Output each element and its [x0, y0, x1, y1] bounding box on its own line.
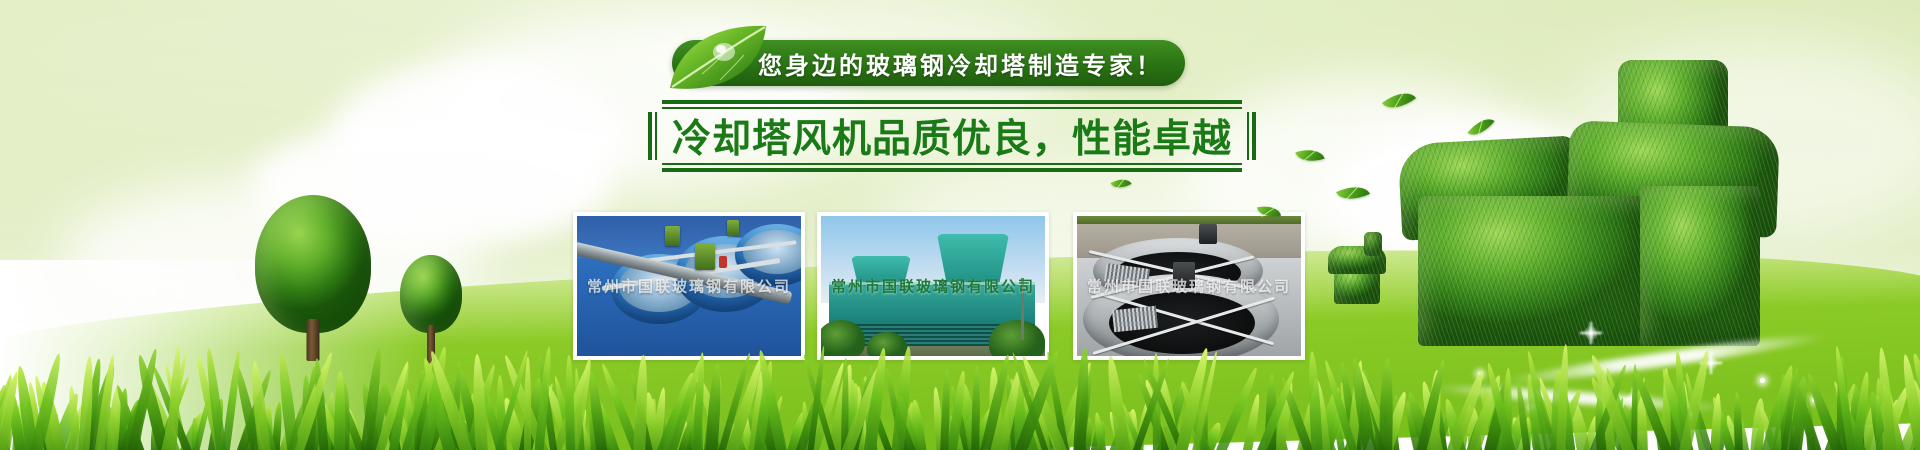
grass-blade — [564, 355, 574, 450]
promo-banner: 您身边的玻璃钢冷却塔制造专家！ 冷却塔风机品质优良，性能卓越 常州市国联玻璃钢有 — [0, 0, 1920, 450]
photo-watermark: 常州市国联玻璃钢有限公司 — [1077, 276, 1301, 297]
photo-watermark: 常州市国联玻璃钢有限公司 — [577, 276, 801, 297]
grass-house — [1418, 78, 1768, 346]
leaf-icon — [662, 22, 774, 96]
grass-blade — [1104, 355, 1131, 450]
grass-house-wall — [1418, 196, 1648, 346]
sparkle-dot — [1760, 378, 1765, 383]
grass-house-side — [1640, 186, 1760, 346]
tagline-text: 您身边的玻璃钢冷却塔制造专家！ — [758, 46, 1163, 81]
photo-watermark: 常州市国联玻璃钢有限公司 — [821, 276, 1045, 297]
headline-box: 冷却塔风机品质优良，性能卓越 — [648, 100, 1256, 172]
small-grass-house — [1334, 260, 1394, 304]
tagline-badge: 您身边的玻璃钢冷却塔制造专家！ — [672, 40, 1185, 86]
grass-blade — [1379, 358, 1394, 450]
grass-foreground — [0, 330, 1920, 450]
sparkle — [1580, 322, 1602, 344]
headline-text: 冷却塔风机品质优良，性能卓越 — [648, 100, 1256, 172]
